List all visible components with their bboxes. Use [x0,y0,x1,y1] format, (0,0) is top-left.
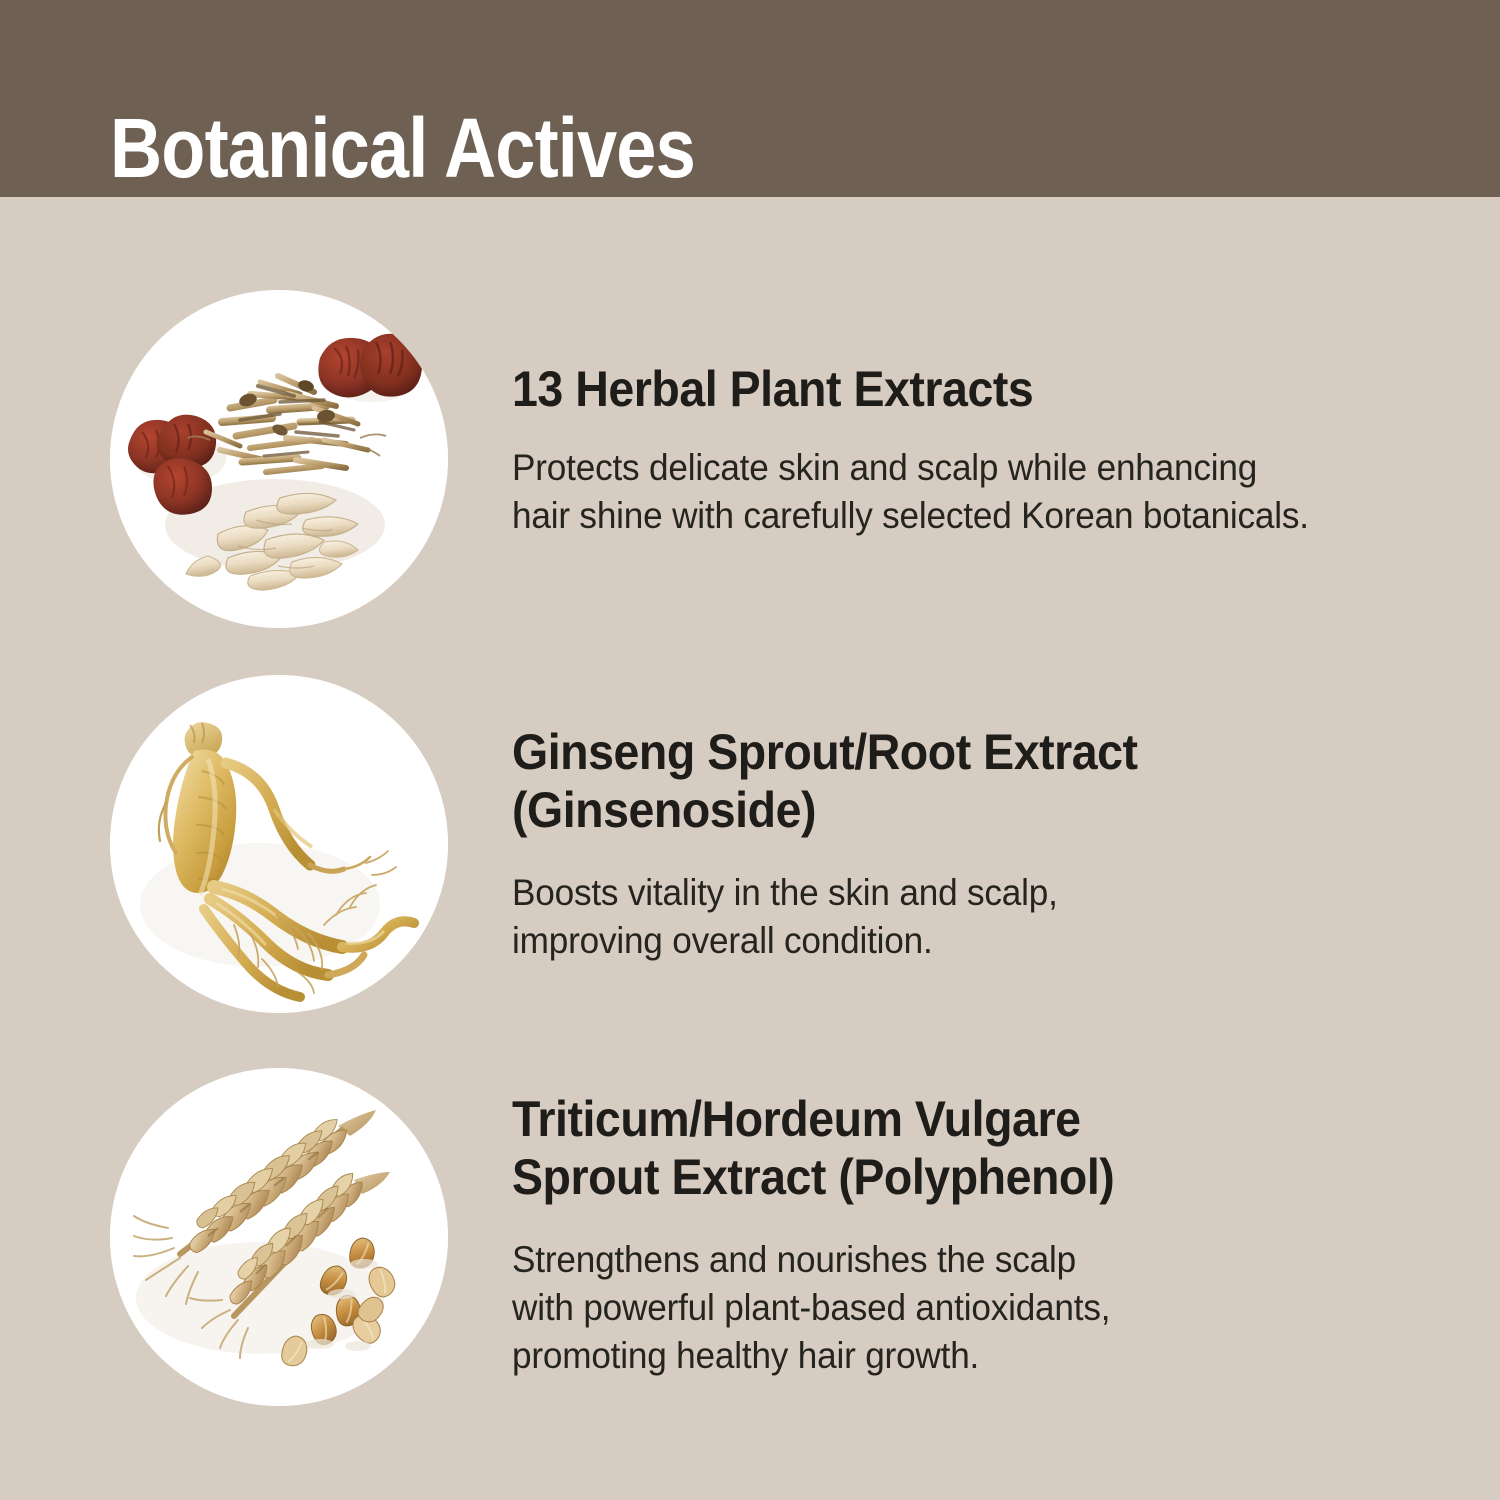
feature-heading: Triticum/Hordeum Vulgare Sprout Extract … [512,1090,1114,1206]
feature-body: Strengthens and nourishes the scalp with… [512,1236,1127,1380]
feature-heading: 13 Herbal Plant Extracts [512,360,1292,418]
ginseng-root-photo [110,675,448,1013]
feature-heading: Ginseng Sprout/Root Extract (Ginsenoside… [512,723,1138,839]
feature-text-column: Triticum/Hordeum Vulgare Sprout Extract … [512,1090,1160,1380]
header-bar: Botanical Actives [0,0,1500,197]
infographic-page: Botanical Actives [0,0,1500,1500]
wheat-barley-ears-photo [110,1068,448,1406]
feature-text-column: 13 Herbal Plant Extracts Protects delica… [512,360,1351,540]
feature-text-column: Ginseng Sprout/Root Extract (Ginsenoside… [512,723,1185,965]
page-title: Botanical Actives [110,104,695,192]
dried-herbs-jujube-photo [110,290,448,628]
feature-body: Boosts vitality in the skin and scalp, i… [512,869,1151,965]
feature-body: Protects delicate skin and scalp while e… [512,444,1309,540]
